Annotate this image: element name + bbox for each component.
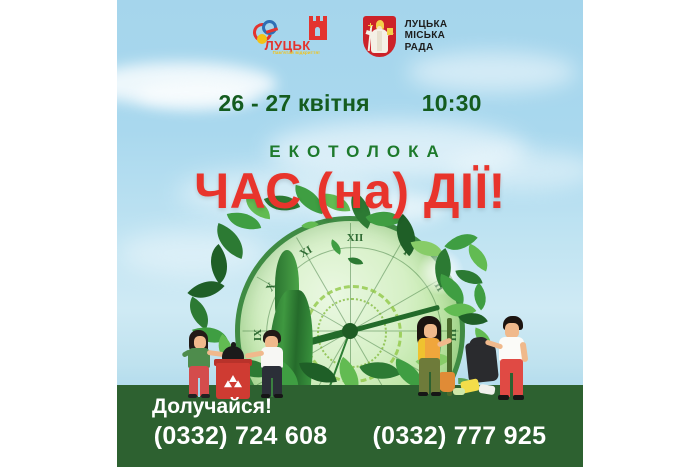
event-time: 10:30 (422, 90, 482, 117)
event-dates: 26 - 27 квітня (218, 90, 369, 117)
phone-row: (0332) 724 608 (0332) 777 925 (117, 422, 583, 451)
city-council-name: ЛУЦЬКА МІСЬКА РАДА (405, 19, 448, 54)
event-date-time-row: 26 - 27 квітня 10:30 (117, 90, 583, 117)
clock-numeral: XII (347, 232, 364, 244)
council-line-1: ЛУЦЬКА (405, 19, 448, 31)
litter-item (453, 388, 465, 395)
lutsk-city-logo: ЛУЦЬК Пам'ятай відкриття! (253, 16, 337, 56)
phone-number-2: (0332) 777 925 (373, 422, 547, 451)
phone-number-1: (0332) 724 608 (154, 422, 328, 451)
lutsk-logo-tagline: Пам'ятай відкриття! (273, 50, 320, 55)
person-woman-right (409, 316, 453, 400)
header-logo-bar: ЛУЦЬК Пам'ятай відкриття! ЛУЦЬ (117, 10, 583, 62)
join-label: Долучайся! (152, 395, 272, 419)
recycle-symbol-icon (225, 375, 241, 390)
lutsk-coat-of-arms-icon (363, 16, 396, 57)
recycle-bin-icon (214, 353, 252, 399)
person-man-right (485, 316, 535, 404)
city-council-block: ЛУЦЬКА МІСЬКА РАДА (363, 16, 448, 57)
ecotoloka-poster: ЛУЦЬК Пам'ятай відкриття! ЛУЦЬ (117, 0, 583, 467)
council-line-2: МІСЬКА (405, 30, 448, 42)
poster-page: ЛУЦЬК Пам'ятай відкриття! ЛУЦЬ (0, 0, 700, 467)
event-eyebrow: ЕКОТОЛОКА (117, 142, 583, 162)
council-line-3: РАДА (405, 42, 448, 54)
person-man-left (247, 330, 291, 400)
event-headline: ЧАС (на) ДІЇ! (117, 162, 583, 220)
tower-icon (307, 16, 329, 40)
